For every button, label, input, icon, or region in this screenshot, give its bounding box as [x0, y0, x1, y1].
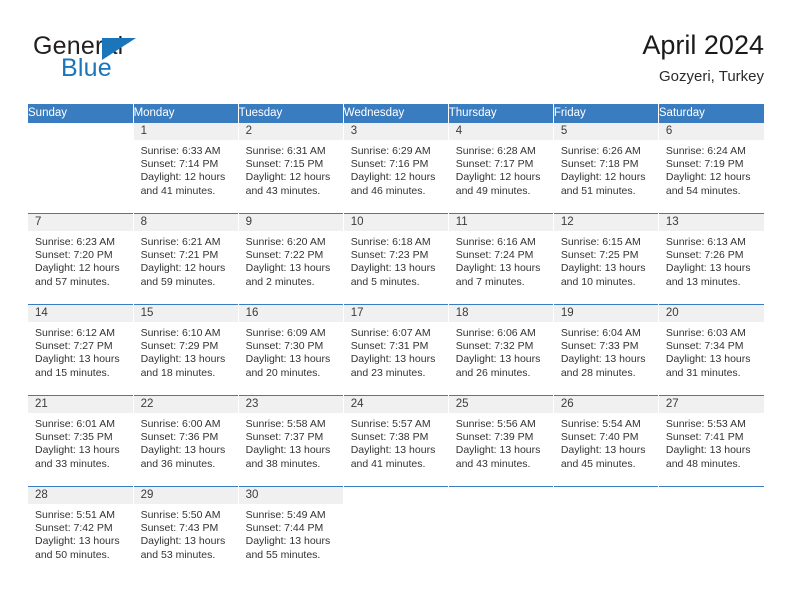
day-number: 14 — [28, 305, 133, 322]
day-detail-line: Sunrise: 5:53 AM — [666, 418, 757, 431]
day-detail-line: Sunrise: 6:00 AM — [141, 418, 231, 431]
day-details: Sunrise: 6:23 AMSunset: 7:20 PMDaylight:… — [28, 231, 133, 289]
day-details: Sunrise: 6:15 AMSunset: 7:25 PMDaylight:… — [554, 231, 658, 289]
day-cell-content: 24Sunrise: 5:57 AMSunset: 7:38 PMDayligh… — [344, 396, 448, 486]
day-detail-line: and 59 minutes. — [141, 276, 231, 289]
day-detail-line: Daylight: 13 hours — [561, 444, 651, 457]
calendar-day-cell[interactable]: 24Sunrise: 5:57 AMSunset: 7:38 PMDayligh… — [343, 396, 448, 487]
day-detail-line: Sunset: 7:30 PM — [246, 340, 336, 353]
calendar-body: 1Sunrise: 6:33 AMSunset: 7:14 PMDaylight… — [28, 123, 764, 577]
day-detail-line: Sunrise: 6:28 AM — [456, 145, 546, 158]
day-detail-line: Daylight: 12 hours — [35, 262, 126, 275]
day-detail-line: Daylight: 13 hours — [246, 535, 336, 548]
day-detail-line: Sunset: 7:21 PM — [141, 249, 231, 262]
day-detail-line: Sunset: 7:25 PM — [561, 249, 651, 262]
day-cell-content: 21Sunrise: 6:01 AMSunset: 7:35 PMDayligh… — [28, 396, 133, 486]
day-detail-line: Sunset: 7:24 PM — [456, 249, 546, 262]
day-details: Sunrise: 6:33 AMSunset: 7:14 PMDaylight:… — [134, 140, 238, 198]
day-cell-content: 10Sunrise: 6:18 AMSunset: 7:23 PMDayligh… — [344, 214, 448, 304]
day-number: 6 — [659, 123, 764, 140]
calendar-page: General Blue April 2024 Gozyeri, Turkey … — [0, 0, 792, 612]
day-detail-line: Daylight: 13 hours — [141, 535, 231, 548]
day-detail-line: and 20 minutes. — [246, 367, 336, 380]
day-detail-line: and 7 minutes. — [456, 276, 546, 289]
day-cell-content — [554, 487, 658, 577]
calendar-day-cell[interactable]: 21Sunrise: 6:01 AMSunset: 7:35 PMDayligh… — [28, 396, 133, 487]
day-detail-line: Daylight: 12 hours — [561, 171, 651, 184]
day-details: Sunrise: 6:13 AMSunset: 7:26 PMDaylight:… — [659, 231, 764, 289]
brand-logo[interactable]: General Blue — [28, 32, 248, 92]
day-detail-line: and 28 minutes. — [561, 367, 651, 380]
day-detail-line: Sunset: 7:44 PM — [246, 522, 336, 535]
day-detail-line: and 18 minutes. — [141, 367, 231, 380]
day-detail-line: and 49 minutes. — [456, 185, 546, 198]
calendar-day-cell[interactable]: 20Sunrise: 6:03 AMSunset: 7:34 PMDayligh… — [658, 305, 763, 396]
calendar-day-cell[interactable]: 19Sunrise: 6:04 AMSunset: 7:33 PMDayligh… — [553, 305, 658, 396]
day-number: 20 — [659, 305, 764, 322]
day-details: Sunrise: 6:21 AMSunset: 7:21 PMDaylight:… — [134, 231, 238, 289]
day-detail-line: Daylight: 12 hours — [141, 171, 231, 184]
day-details — [659, 504, 764, 509]
day-details: Sunrise: 5:50 AMSunset: 7:43 PMDaylight:… — [134, 504, 238, 562]
day-detail-line: Daylight: 13 hours — [246, 444, 336, 457]
day-detail-line: Sunrise: 6:13 AM — [666, 236, 757, 249]
day-number: 26 — [554, 396, 658, 413]
day-detail-line: Daylight: 12 hours — [141, 262, 231, 275]
calendar-week-row: 14Sunrise: 6:12 AMSunset: 7:27 PMDayligh… — [28, 305, 764, 396]
day-detail-line: Sunrise: 6:04 AM — [561, 327, 651, 340]
day-detail-line: Daylight: 13 hours — [141, 353, 231, 366]
day-details — [554, 504, 658, 509]
day-cell-content: 8Sunrise: 6:21 AMSunset: 7:21 PMDaylight… — [134, 214, 238, 304]
title-block: April 2024 Gozyeri, Turkey — [642, 28, 764, 88]
day-detail-line: Daylight: 13 hours — [456, 353, 546, 366]
day-detail-line: Daylight: 13 hours — [246, 262, 336, 275]
day-detail-line: Sunrise: 5:49 AM — [246, 509, 336, 522]
day-number: 1 — [134, 123, 238, 140]
day-detail-line: Daylight: 13 hours — [351, 353, 441, 366]
day-detail-line: Daylight: 13 hours — [35, 444, 126, 457]
day-cell-content — [449, 487, 553, 577]
day-number: 11 — [449, 214, 553, 231]
calendar-day-cell[interactable]: 5Sunrise: 6:26 AMSunset: 7:18 PMDaylight… — [553, 123, 658, 214]
weekday-header-monday: Monday — [133, 104, 238, 123]
day-details: Sunrise: 6:29 AMSunset: 7:16 PMDaylight:… — [344, 140, 448, 198]
day-cell-content: 9Sunrise: 6:20 AMSunset: 7:22 PMDaylight… — [239, 214, 343, 304]
calendar-day-cell[interactable] — [448, 487, 553, 578]
day-cell-content: 6Sunrise: 6:24 AMSunset: 7:19 PMDaylight… — [659, 123, 764, 213]
calendar-day-cell[interactable]: 27Sunrise: 5:53 AMSunset: 7:41 PMDayligh… — [658, 396, 763, 487]
day-cell-content: 25Sunrise: 5:56 AMSunset: 7:39 PMDayligh… — [449, 396, 553, 486]
day-detail-line: Sunset: 7:14 PM — [141, 158, 231, 171]
day-cell-content: 23Sunrise: 5:58 AMSunset: 7:37 PMDayligh… — [239, 396, 343, 486]
calendar-day-cell[interactable] — [553, 487, 658, 578]
day-detail-line: Sunset: 7:37 PM — [246, 431, 336, 444]
day-cell-content: 4Sunrise: 6:28 AMSunset: 7:17 PMDaylight… — [449, 123, 553, 213]
day-cell-content: 28Sunrise: 5:51 AMSunset: 7:42 PMDayligh… — [28, 487, 133, 577]
calendar-day-cell[interactable]: 25Sunrise: 5:56 AMSunset: 7:39 PMDayligh… — [448, 396, 553, 487]
day-detail-line: Daylight: 13 hours — [35, 353, 126, 366]
day-cell-content: 22Sunrise: 6:00 AMSunset: 7:36 PMDayligh… — [134, 396, 238, 486]
day-detail-line: Daylight: 12 hours — [351, 171, 441, 184]
day-cell-content: 1Sunrise: 6:33 AMSunset: 7:14 PMDaylight… — [134, 123, 238, 213]
day-detail-line: Sunset: 7:34 PM — [666, 340, 757, 353]
day-cell-content: 18Sunrise: 6:06 AMSunset: 7:32 PMDayligh… — [449, 305, 553, 395]
day-details: Sunrise: 6:24 AMSunset: 7:19 PMDaylight:… — [659, 140, 764, 198]
day-detail-line: Sunrise: 6:18 AM — [351, 236, 441, 249]
page-header: General Blue April 2024 Gozyeri, Turkey — [28, 28, 764, 100]
day-cell-content: 27Sunrise: 5:53 AMSunset: 7:41 PMDayligh… — [659, 396, 764, 486]
day-details: Sunrise: 6:00 AMSunset: 7:36 PMDaylight:… — [134, 413, 238, 471]
day-number: 24 — [344, 396, 448, 413]
day-number: 22 — [134, 396, 238, 413]
calendar-day-cell[interactable]: 29Sunrise: 5:50 AMSunset: 7:43 PMDayligh… — [133, 487, 238, 578]
day-details: Sunrise: 5:53 AMSunset: 7:41 PMDaylight:… — [659, 413, 764, 471]
day-cell-content — [344, 487, 448, 577]
calendar-day-cell[interactable]: 13Sunrise: 6:13 AMSunset: 7:26 PMDayligh… — [658, 214, 763, 305]
day-detail-line: Sunset: 7:43 PM — [141, 522, 231, 535]
calendar-day-cell[interactable]: 9Sunrise: 6:20 AMSunset: 7:22 PMDaylight… — [238, 214, 343, 305]
day-detail-line: Daylight: 13 hours — [666, 353, 757, 366]
day-detail-line: Daylight: 13 hours — [35, 535, 126, 548]
day-detail-line: Daylight: 13 hours — [141, 444, 231, 457]
day-detail-line: and 43 minutes. — [456, 458, 546, 471]
day-number: 19 — [554, 305, 658, 322]
calendar-day-cell[interactable]: 22Sunrise: 6:00 AMSunset: 7:36 PMDayligh… — [133, 396, 238, 487]
day-details — [449, 504, 553, 509]
day-cell-content: 12Sunrise: 6:15 AMSunset: 7:25 PMDayligh… — [554, 214, 658, 304]
day-cell-content: 30Sunrise: 5:49 AMSunset: 7:44 PMDayligh… — [239, 487, 343, 577]
day-number: 28 — [28, 487, 133, 504]
day-cell-content: 3Sunrise: 6:29 AMSunset: 7:16 PMDaylight… — [344, 123, 448, 213]
day-detail-line: and 46 minutes. — [351, 185, 441, 198]
day-details: Sunrise: 6:06 AMSunset: 7:32 PMDaylight:… — [449, 322, 553, 380]
day-detail-line: Daylight: 13 hours — [666, 262, 757, 275]
day-detail-line: and 2 minutes. — [246, 276, 336, 289]
day-number: 18 — [449, 305, 553, 322]
day-detail-line: Daylight: 13 hours — [561, 353, 651, 366]
day-cell-content: 17Sunrise: 6:07 AMSunset: 7:31 PMDayligh… — [344, 305, 448, 395]
day-cell-content: 20Sunrise: 6:03 AMSunset: 7:34 PMDayligh… — [659, 305, 764, 395]
day-detail-line: Sunrise: 6:07 AM — [351, 327, 441, 340]
day-number: 5 — [554, 123, 658, 140]
day-detail-line: and 10 minutes. — [561, 276, 651, 289]
day-detail-line: Sunrise: 6:10 AM — [141, 327, 231, 340]
day-detail-line: Sunrise: 5:50 AM — [141, 509, 231, 522]
day-detail-line: and 26 minutes. — [456, 367, 546, 380]
calendar-day-cell[interactable]: 11Sunrise: 6:16 AMSunset: 7:24 PMDayligh… — [448, 214, 553, 305]
day-details — [28, 140, 133, 145]
day-detail-line: Sunrise: 5:51 AM — [35, 509, 126, 522]
day-cell-content: 11Sunrise: 6:16 AMSunset: 7:24 PMDayligh… — [449, 214, 553, 304]
day-number: 16 — [239, 305, 343, 322]
day-detail-line: and 51 minutes. — [561, 185, 651, 198]
calendar-day-cell[interactable]: 7Sunrise: 6:23 AMSunset: 7:20 PMDaylight… — [28, 214, 133, 305]
day-details: Sunrise: 6:16 AMSunset: 7:24 PMDaylight:… — [449, 231, 553, 289]
calendar-day-cell[interactable]: 17Sunrise: 6:07 AMSunset: 7:31 PMDayligh… — [343, 305, 448, 396]
calendar-day-cell[interactable]: 16Sunrise: 6:09 AMSunset: 7:30 PMDayligh… — [238, 305, 343, 396]
day-number: 13 — [659, 214, 764, 231]
day-details: Sunrise: 6:28 AMSunset: 7:17 PMDaylight:… — [449, 140, 553, 198]
day-detail-line: Sunrise: 6:16 AM — [456, 236, 546, 249]
day-details: Sunrise: 6:03 AMSunset: 7:34 PMDaylight:… — [659, 322, 764, 380]
day-number — [554, 487, 658, 504]
day-details: Sunrise: 6:18 AMSunset: 7:23 PMDaylight:… — [344, 231, 448, 289]
day-detail-line: Sunset: 7:18 PM — [561, 158, 651, 171]
day-details: Sunrise: 5:49 AMSunset: 7:44 PMDaylight:… — [239, 504, 343, 562]
day-detail-line: Sunrise: 5:57 AM — [351, 418, 441, 431]
day-detail-line: and 23 minutes. — [351, 367, 441, 380]
day-number: 25 — [449, 396, 553, 413]
weekday-header-friday: Friday — [553, 104, 658, 123]
day-detail-line: Daylight: 13 hours — [561, 262, 651, 275]
calendar-day-cell[interactable]: 3Sunrise: 6:29 AMSunset: 7:16 PMDaylight… — [343, 123, 448, 214]
day-detail-line: Sunset: 7:19 PM — [666, 158, 757, 171]
day-detail-line: Daylight: 13 hours — [351, 262, 441, 275]
day-number: 10 — [344, 214, 448, 231]
calendar-day-cell[interactable]: 8Sunrise: 6:21 AMSunset: 7:21 PMDaylight… — [133, 214, 238, 305]
day-detail-line: Sunrise: 6:01 AM — [35, 418, 126, 431]
calendar-day-cell[interactable]: 12Sunrise: 6:15 AMSunset: 7:25 PMDayligh… — [553, 214, 658, 305]
day-detail-line: Sunset: 7:20 PM — [35, 249, 126, 262]
day-number — [659, 487, 764, 504]
calendar-day-cell[interactable]: 28Sunrise: 5:51 AMSunset: 7:42 PMDayligh… — [28, 487, 133, 578]
day-number — [344, 487, 448, 504]
day-detail-line: Sunset: 7:23 PM — [351, 249, 441, 262]
calendar-day-cell[interactable]: 23Sunrise: 5:58 AMSunset: 7:37 PMDayligh… — [238, 396, 343, 487]
weekday-header-tuesday: Tuesday — [238, 104, 343, 123]
day-number: 27 — [659, 396, 764, 413]
day-detail-line: Sunset: 7:29 PM — [141, 340, 231, 353]
day-detail-line: Daylight: 12 hours — [666, 171, 757, 184]
day-detail-line: Sunset: 7:27 PM — [35, 340, 126, 353]
day-detail-line: and 41 minutes. — [351, 458, 441, 471]
calendar-day-cell[interactable]: 4Sunrise: 6:28 AMSunset: 7:17 PMDaylight… — [448, 123, 553, 214]
day-detail-line: Sunrise: 6:06 AM — [456, 327, 546, 340]
day-detail-line: Sunrise: 6:15 AM — [561, 236, 651, 249]
day-detail-line: Sunset: 7:36 PM — [141, 431, 231, 444]
day-details: Sunrise: 6:07 AMSunset: 7:31 PMDaylight:… — [344, 322, 448, 380]
weekday-header-wednesday: Wednesday — [343, 104, 448, 123]
day-number: 21 — [28, 396, 133, 413]
day-detail-line: Sunrise: 6:12 AM — [35, 327, 126, 340]
day-detail-line: and 15 minutes. — [35, 367, 126, 380]
day-detail-line: Sunrise: 6:21 AM — [141, 236, 231, 249]
day-detail-line: and 55 minutes. — [246, 549, 336, 562]
calendar-header-row: Sunday Monday Tuesday Wednesday Thursday… — [28, 104, 764, 123]
weekday-header-saturday: Saturday — [658, 104, 763, 123]
day-detail-line: and 31 minutes. — [666, 367, 757, 380]
day-detail-line: Sunset: 7:40 PM — [561, 431, 651, 444]
day-number: 29 — [134, 487, 238, 504]
day-detail-line: Sunset: 7:41 PM — [666, 431, 757, 444]
day-number: 15 — [134, 305, 238, 322]
calendar-day-cell[interactable]: 2Sunrise: 6:31 AMSunset: 7:15 PMDaylight… — [238, 123, 343, 214]
day-details: Sunrise: 6:31 AMSunset: 7:15 PMDaylight:… — [239, 140, 343, 198]
day-detail-line: and 45 minutes. — [561, 458, 651, 471]
day-number: 7 — [28, 214, 133, 231]
day-cell-content — [659, 487, 764, 577]
day-detail-line: Sunrise: 6:24 AM — [666, 145, 757, 158]
day-number: 23 — [239, 396, 343, 413]
day-detail-line: Daylight: 13 hours — [246, 353, 336, 366]
day-details: Sunrise: 6:26 AMSunset: 7:18 PMDaylight:… — [554, 140, 658, 198]
day-detail-line: Sunset: 7:26 PM — [666, 249, 757, 262]
brand-name-blue: Blue — [61, 54, 112, 83]
calendar-day-cell[interactable]: 18Sunrise: 6:06 AMSunset: 7:32 PMDayligh… — [448, 305, 553, 396]
day-detail-line: Sunset: 7:35 PM — [35, 431, 126, 444]
calendar-day-cell[interactable]: 6Sunrise: 6:24 AMSunset: 7:19 PMDaylight… — [658, 123, 763, 214]
day-cell-content: 19Sunrise: 6:04 AMSunset: 7:33 PMDayligh… — [554, 305, 658, 395]
day-detail-line: Sunset: 7:42 PM — [35, 522, 126, 535]
day-cell-content: 26Sunrise: 5:54 AMSunset: 7:40 PMDayligh… — [554, 396, 658, 486]
calendar-day-cell[interactable]: 10Sunrise: 6:18 AMSunset: 7:23 PMDayligh… — [343, 214, 448, 305]
day-details: Sunrise: 6:12 AMSunset: 7:27 PMDaylight:… — [28, 322, 133, 380]
page-subtitle: Gozyeri, Turkey — [642, 66, 764, 88]
day-detail-line: and 43 minutes. — [246, 185, 336, 198]
day-cell-content: 7Sunrise: 6:23 AMSunset: 7:20 PMDaylight… — [28, 214, 133, 304]
day-detail-line: Sunset: 7:16 PM — [351, 158, 441, 171]
day-details: Sunrise: 5:56 AMSunset: 7:39 PMDaylight:… — [449, 413, 553, 471]
weekday-header-sunday: Sunday — [28, 104, 133, 123]
day-cell-content: 15Sunrise: 6:10 AMSunset: 7:29 PMDayligh… — [134, 305, 238, 395]
day-detail-line: Sunrise: 6:33 AM — [141, 145, 231, 158]
day-detail-line: Sunrise: 6:20 AM — [246, 236, 336, 249]
day-detail-line: Sunset: 7:22 PM — [246, 249, 336, 262]
day-detail-line: Daylight: 12 hours — [456, 171, 546, 184]
day-details — [344, 504, 448, 509]
day-cell-content: 29Sunrise: 5:50 AMSunset: 7:43 PMDayligh… — [134, 487, 238, 577]
day-detail-line: and 13 minutes. — [666, 276, 757, 289]
day-detail-line: Sunset: 7:15 PM — [246, 158, 336, 171]
day-detail-line: Sunset: 7:17 PM — [456, 158, 546, 171]
day-detail-line: Sunrise: 6:09 AM — [246, 327, 336, 340]
day-detail-line: and 54 minutes. — [666, 185, 757, 198]
day-detail-line: Sunrise: 5:58 AM — [246, 418, 336, 431]
day-number: 17 — [344, 305, 448, 322]
day-detail-line: Daylight: 13 hours — [456, 262, 546, 275]
day-number: 9 — [239, 214, 343, 231]
day-detail-line: and 33 minutes. — [35, 458, 126, 471]
day-detail-line: Sunset: 7:31 PM — [351, 340, 441, 353]
calendar-week-row: 7Sunrise: 6:23 AMSunset: 7:20 PMDaylight… — [28, 214, 764, 305]
day-number: 12 — [554, 214, 658, 231]
day-number — [28, 123, 133, 140]
calendar-week-row: 28Sunrise: 5:51 AMSunset: 7:42 PMDayligh… — [28, 487, 764, 578]
day-detail-line: Sunset: 7:32 PM — [456, 340, 546, 353]
day-detail-line: Sunrise: 5:56 AM — [456, 418, 546, 431]
calendar-day-cell[interactable]: 26Sunrise: 5:54 AMSunset: 7:40 PMDayligh… — [553, 396, 658, 487]
day-details: Sunrise: 5:58 AMSunset: 7:37 PMDaylight:… — [239, 413, 343, 471]
day-cell-content: 14Sunrise: 6:12 AMSunset: 7:27 PMDayligh… — [28, 305, 133, 395]
day-details: Sunrise: 5:51 AMSunset: 7:42 PMDaylight:… — [28, 504, 133, 562]
calendar-day-cell[interactable]: 15Sunrise: 6:10 AMSunset: 7:29 PMDayligh… — [133, 305, 238, 396]
day-detail-line: Sunrise: 6:29 AM — [351, 145, 441, 158]
day-detail-line: Sunrise: 6:31 AM — [246, 145, 336, 158]
day-detail-line: Sunrise: 6:26 AM — [561, 145, 651, 158]
day-detail-line: and 57 minutes. — [35, 276, 126, 289]
calendar-table: Sunday Monday Tuesday Wednesday Thursday… — [28, 104, 764, 577]
day-cell-content: 2Sunrise: 6:31 AMSunset: 7:15 PMDaylight… — [239, 123, 343, 213]
calendar-day-cell[interactable]: 1Sunrise: 6:33 AMSunset: 7:14 PMDaylight… — [133, 123, 238, 214]
day-detail-line: Daylight: 13 hours — [456, 444, 546, 457]
day-detail-line: and 50 minutes. — [35, 549, 126, 562]
day-cell-content: 5Sunrise: 6:26 AMSunset: 7:18 PMDaylight… — [554, 123, 658, 213]
page-title: April 2024 — [642, 28, 764, 62]
day-number: 3 — [344, 123, 448, 140]
calendar-week-row: 1Sunrise: 6:33 AMSunset: 7:14 PMDaylight… — [28, 123, 764, 214]
day-details: Sunrise: 6:01 AMSunset: 7:35 PMDaylight:… — [28, 413, 133, 471]
day-details: Sunrise: 5:54 AMSunset: 7:40 PMDaylight:… — [554, 413, 658, 471]
day-detail-line: and 36 minutes. — [141, 458, 231, 471]
day-number: 30 — [239, 487, 343, 504]
calendar-day-cell[interactable] — [658, 487, 763, 578]
day-details: Sunrise: 6:04 AMSunset: 7:33 PMDaylight:… — [554, 322, 658, 380]
day-detail-line: Sunset: 7:39 PM — [456, 431, 546, 444]
day-detail-line: and 48 minutes. — [666, 458, 757, 471]
day-detail-line: Sunrise: 6:23 AM — [35, 236, 126, 249]
day-number: 4 — [449, 123, 553, 140]
calendar-day-cell[interactable] — [343, 487, 448, 578]
calendar-day-cell[interactable]: 30Sunrise: 5:49 AMSunset: 7:44 PMDayligh… — [238, 487, 343, 578]
day-detail-line: Sunrise: 6:03 AM — [666, 327, 757, 340]
day-number: 2 — [239, 123, 343, 140]
day-number — [449, 487, 553, 504]
day-cell-content — [28, 123, 133, 213]
day-detail-line: Daylight: 13 hours — [351, 444, 441, 457]
day-detail-line: Daylight: 13 hours — [666, 444, 757, 457]
calendar-week-row: 21Sunrise: 6:01 AMSunset: 7:35 PMDayligh… — [28, 396, 764, 487]
calendar-day-cell[interactable] — [28, 123, 133, 214]
day-details: Sunrise: 6:09 AMSunset: 7:30 PMDaylight:… — [239, 322, 343, 380]
day-detail-line: and 53 minutes. — [141, 549, 231, 562]
day-number: 8 — [134, 214, 238, 231]
day-details: Sunrise: 6:20 AMSunset: 7:22 PMDaylight:… — [239, 231, 343, 289]
day-detail-line: Sunset: 7:38 PM — [351, 431, 441, 444]
day-detail-line: Sunrise: 5:54 AM — [561, 418, 651, 431]
day-details: Sunrise: 5:57 AMSunset: 7:38 PMDaylight:… — [344, 413, 448, 471]
weekday-header-thursday: Thursday — [448, 104, 553, 123]
day-cell-content: 16Sunrise: 6:09 AMSunset: 7:30 PMDayligh… — [239, 305, 343, 395]
day-details: Sunrise: 6:10 AMSunset: 7:29 PMDaylight:… — [134, 322, 238, 380]
day-detail-line: and 38 minutes. — [246, 458, 336, 471]
day-detail-line: Sunset: 7:33 PM — [561, 340, 651, 353]
day-detail-line: Daylight: 12 hours — [246, 171, 336, 184]
day-cell-content: 13Sunrise: 6:13 AMSunset: 7:26 PMDayligh… — [659, 214, 764, 304]
calendar-day-cell[interactable]: 14Sunrise: 6:12 AMSunset: 7:27 PMDayligh… — [28, 305, 133, 396]
day-detail-line: and 41 minutes. — [141, 185, 231, 198]
day-detail-line: and 5 minutes. — [351, 276, 441, 289]
